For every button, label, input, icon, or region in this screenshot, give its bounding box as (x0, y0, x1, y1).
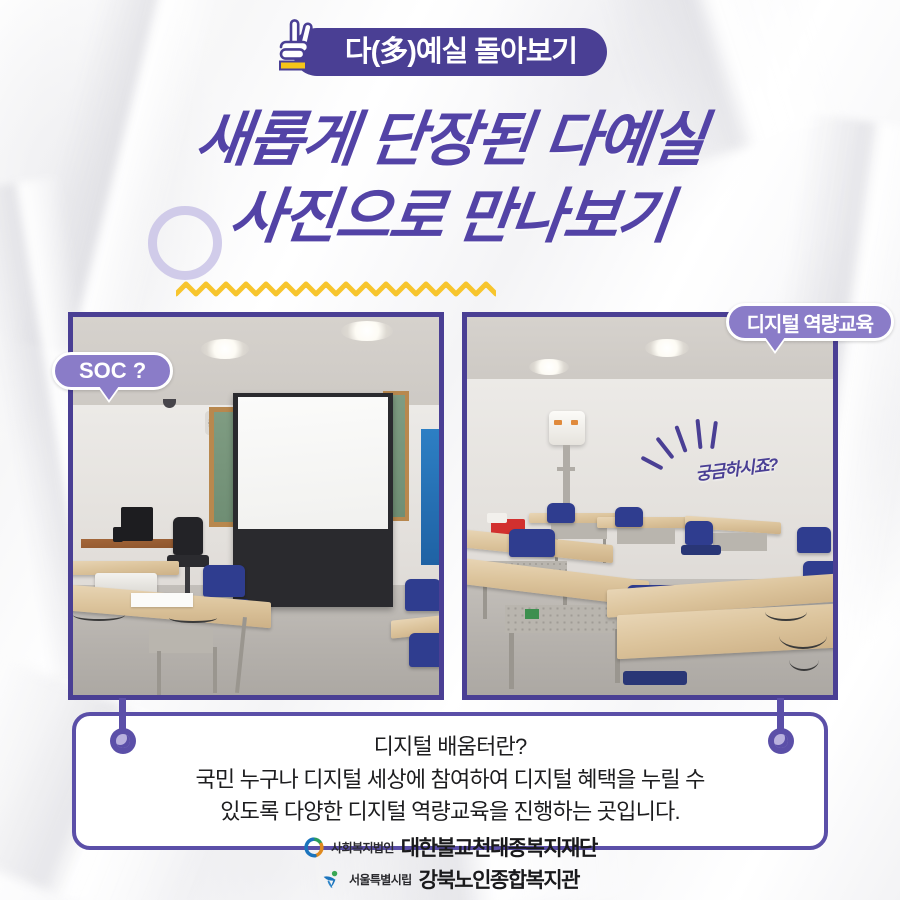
blue-chair-seat (681, 545, 721, 555)
hanger-right (766, 698, 796, 754)
peace-hand-icon (271, 16, 319, 74)
title-line-1: 새롭게 단장된 다예실 (0, 108, 900, 171)
footer-row-foundation: 사회복지법인 대한불교천태종복지재단 (303, 832, 597, 862)
footer-small-label: 서울특별시립 (349, 871, 412, 888)
description-line-1: 국민 누구나 디지털 세상에 참여하여 디지털 혜택을 누릴 수 (195, 764, 704, 795)
table-modesty-panel (617, 528, 675, 544)
ac-indicator (554, 420, 562, 425)
blue-chair-back (405, 579, 441, 611)
white-box (487, 513, 507, 523)
footer-big-label: 강북노인종합복지관 (419, 864, 579, 894)
promo-card: 다(多)예실 돌아보기 새롭게 단장된 다예실 사진으로 만나보기 (0, 0, 900, 900)
cable (789, 649, 819, 671)
cable (73, 609, 125, 621)
footer: 사회복지법인 대한불교천태종복지재단 서울특별시립 강북노인종합복지관 (0, 832, 900, 894)
bubble-digital-education[interactable]: 디지털 역량교육 (726, 303, 894, 341)
table-top (597, 517, 697, 528)
title-block: 새롭게 단장된 다예실 사진으로 만나보기 (0, 108, 900, 248)
paper-sheet (131, 593, 193, 607)
green-sticker (525, 609, 539, 619)
table-modesty-panel (505, 605, 623, 633)
standing-banner (421, 429, 444, 565)
monitor (121, 507, 153, 541)
photo-gallery: 궁금하시죠? (68, 312, 838, 700)
title-line-2: 사진으로 만나보기 (0, 185, 900, 248)
hanger-pin (768, 728, 794, 754)
blue-chair-back (797, 527, 831, 553)
description-box: 디지털 배움터란? 국민 누구나 디지털 세상에 참여하여 디지털 혜택을 누릴… (72, 712, 828, 850)
blue-chair-back (547, 503, 575, 523)
office-chair-back (173, 517, 203, 555)
zigzag-underline-icon (176, 280, 496, 298)
blue-chair-back (509, 529, 555, 557)
blue-chair-back (409, 633, 444, 667)
hanger-pin (110, 728, 136, 754)
screen-surface (238, 397, 388, 529)
wall-ac-unit (549, 411, 585, 445)
description-heading: 디지털 배움터란? (374, 731, 527, 762)
description-line-2: 있도록 다양한 디지털 역량교육을 진행하는 곳입니다. (220, 796, 680, 827)
table-leg (157, 651, 161, 695)
blue-chair-back (203, 565, 245, 597)
ring-logo-icon (303, 837, 324, 858)
speaker (113, 527, 123, 542)
blue-chair-back (615, 507, 643, 527)
cable (169, 613, 217, 623)
footer-small-label: 사회복지법인 (331, 839, 394, 856)
table-leg (483, 585, 487, 619)
cable (765, 603, 807, 621)
badge-label: 다(多)예실 돌아보기 (345, 38, 577, 67)
table-modesty-panel (713, 533, 767, 551)
table-leg (509, 633, 514, 689)
badge-row: 다(多)예실 돌아보기 (0, 28, 900, 76)
photo-classroom-with-desks[interactable]: 궁금하시죠? (462, 312, 838, 700)
ac-indicator (571, 420, 578, 425)
chair-post (185, 567, 190, 593)
blue-chair-seat (623, 671, 687, 685)
ceiling-light (201, 339, 249, 359)
footer-big-label: 대한불교천태종복지재단 (401, 832, 597, 862)
ceiling-light (529, 359, 569, 375)
ac-support-pole (563, 445, 570, 509)
table-leg (213, 647, 217, 693)
footer-row-center: 서울특별시립 강북노인종합복지관 (321, 864, 579, 894)
table-modesty-panel (149, 629, 213, 653)
projection-screen (233, 393, 393, 607)
ceiling-light (341, 321, 393, 341)
cable (779, 623, 827, 649)
pole-bracket (557, 467, 575, 471)
bubble-digital-label: 디지털 역량교육 (747, 308, 873, 337)
section-badge: 다(多)예실 돌아보기 (293, 28, 607, 76)
ceiling-light (645, 339, 689, 357)
bubble-soc[interactable]: SOC ? (52, 352, 173, 390)
bubble-soc-label: SOC ? (79, 358, 146, 384)
hanger-left (108, 698, 138, 754)
person-logo-icon (321, 869, 342, 890)
blue-chair-back (685, 521, 713, 545)
